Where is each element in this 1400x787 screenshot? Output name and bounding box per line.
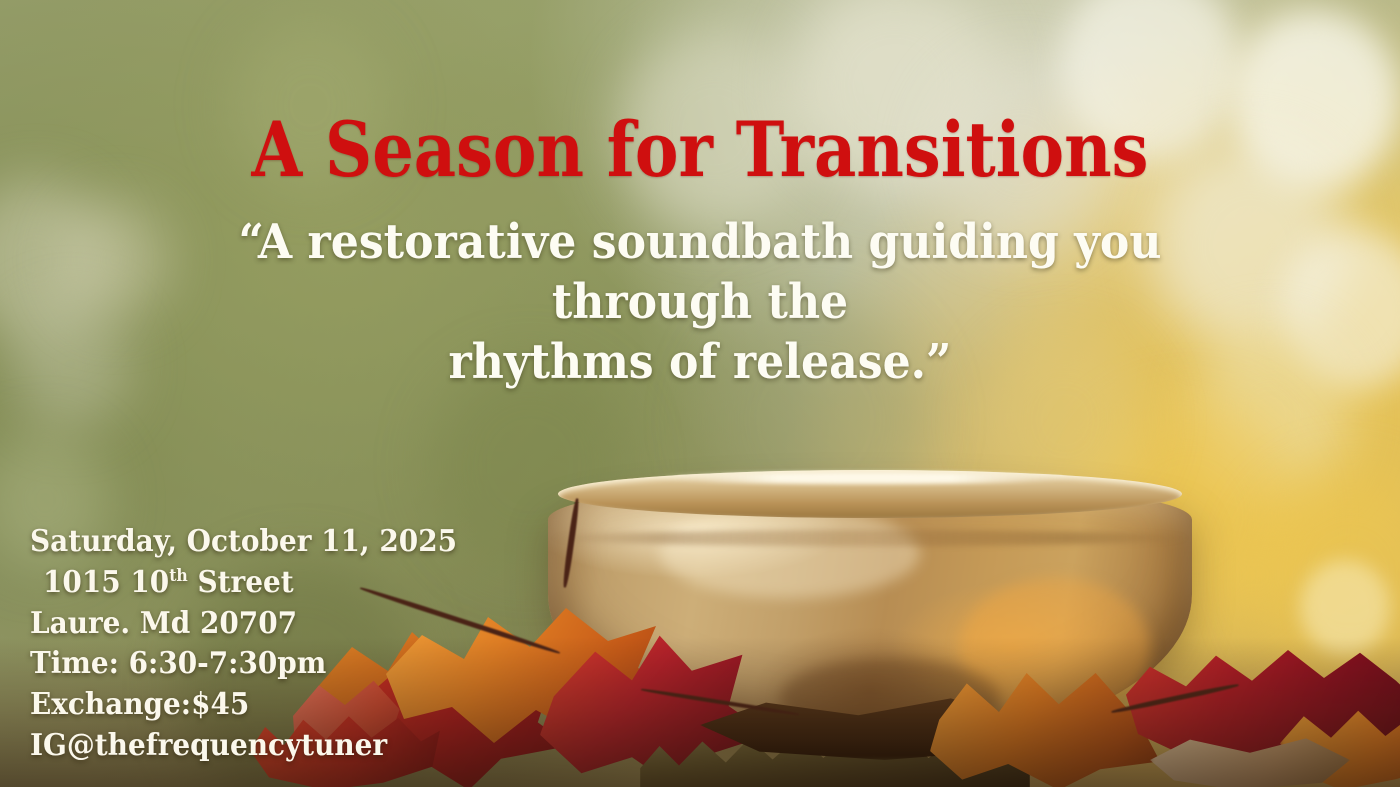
subtitle-line-1: “A restorative soundbath guiding you thr… (239, 214, 1162, 330)
address-street: Street (188, 565, 294, 600)
detail-address: 1015 10th Street (30, 563, 457, 604)
flyer-subtitle: “A restorative soundbath guiding you thr… (157, 212, 1243, 392)
address-number: 1015 10 (43, 565, 169, 600)
detail-city-state-zip: Laure. Md 20707 (30, 604, 457, 645)
flyer-text: A Season for Transitions “A restorative … (0, 0, 1400, 787)
detail-exchange: Exchange:$45 (30, 685, 457, 726)
event-flyer: A Season for Transitions “A restorative … (0, 0, 1400, 787)
detail-date: Saturday, October 11, 2025 (30, 522, 457, 563)
subtitle-line-2: rhythms of release.” (449, 334, 952, 390)
detail-time: Time: 6:30-7:30pm (30, 644, 457, 685)
address-ordinal-suffix: th (169, 565, 188, 585)
page-title: A Season for Transitions (98, 112, 1302, 188)
detail-social-handle: IG@thefrequencytuner (30, 726, 457, 767)
event-details-block: Saturday, October 11, 2025 1015 10th Str… (30, 522, 457, 767)
